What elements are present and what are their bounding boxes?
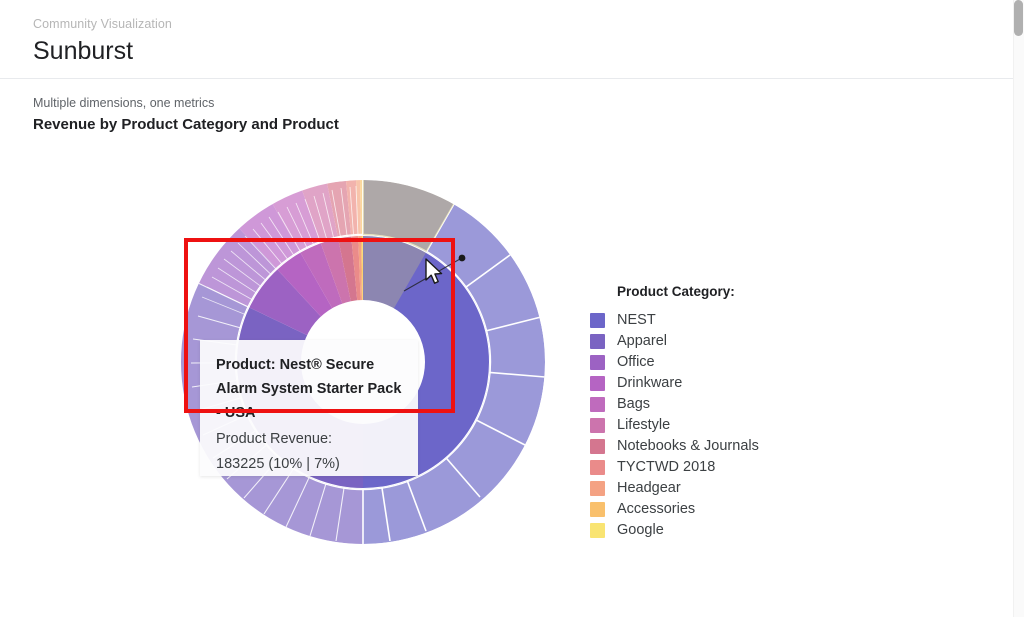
legend-swatch-icon [590,418,605,433]
legend-swatch-icon [590,439,605,454]
vertical-scrollbar-track[interactable] [1013,0,1024,617]
legend-label: Lifestyle [617,415,670,436]
legend-label: TYCTWD 2018 [617,457,715,478]
legend-swatch-icon [590,355,605,370]
page-title: Sunburst [33,34,172,68]
legend-label: Bags [617,394,650,415]
legend-label: Notebooks & Journals [617,436,759,457]
legend-swatch-icon [590,460,605,475]
legend-item-accessories[interactable]: Accessories [590,499,830,520]
legend-item-headgear[interactable]: Headgear [590,478,830,499]
chart-card: Multiple dimensions, one metrics Revenue… [0,79,1013,617]
legend-item-tyctwd-2018[interactable]: TYCTWD 2018 [590,457,830,478]
legend-label: Apparel [617,331,667,352]
legend-title: Product Category: [617,283,830,310]
tooltip-metric-label: Product Revenue: [216,427,402,452]
legend-label: Google [617,520,664,541]
legend-item-google[interactable]: Google [590,520,830,541]
legend-swatch-icon [590,523,605,538]
header-eyebrow: Community Visualization [33,16,172,32]
legend-swatch-icon [590,313,605,328]
legend-item-bags[interactable]: Bags [590,394,830,415]
legend-item-apparel[interactable]: Apparel [590,331,830,352]
legend-item-notebooks-journals[interactable]: Notebooks & Journals [590,436,830,457]
legend-swatch-icon [590,334,605,349]
legend-item-lifestyle[interactable]: Lifestyle [590,415,830,436]
page-header: Community Visualization Sunburst [0,0,1013,78]
app-page: Community Visualization Sunburst Multipl… [0,0,1024,617]
legend-label: NEST [617,310,656,331]
tooltip-value: 183225 (10% | 7%) [216,452,402,477]
tooltip-title: Product: Nest® Secure Alarm System Start… [216,353,402,425]
vertical-scrollbar-thumb[interactable] [1014,0,1023,36]
mouse-cursor-icon [424,258,446,288]
legend-label: Accessories [617,499,695,520]
legend-item-nest[interactable]: NEST [590,310,830,331]
chart-tooltip: Product: Nest® Secure Alarm System Start… [200,340,418,476]
chart-title: Revenue by Product Category and Product [33,115,339,135]
legend-label: Office [617,352,655,373]
chart-legend: Product Category: NEST Apparel Office Dr… [590,283,830,541]
legend-swatch-icon [590,502,605,517]
legend-label: Headgear [617,478,681,499]
legend-swatch-icon [590,397,605,412]
legend-swatch-icon [590,481,605,496]
legend-swatch-icon [590,376,605,391]
legend-item-office[interactable]: Office [590,352,830,373]
chart-subtitle: Multiple dimensions, one metrics [33,95,214,111]
legend-item-drinkware[interactable]: Drinkware [590,373,830,394]
header-text-group: Community Visualization Sunburst [33,16,172,68]
legend-label: Drinkware [617,373,682,394]
leader-anchor-dot [459,255,466,262]
